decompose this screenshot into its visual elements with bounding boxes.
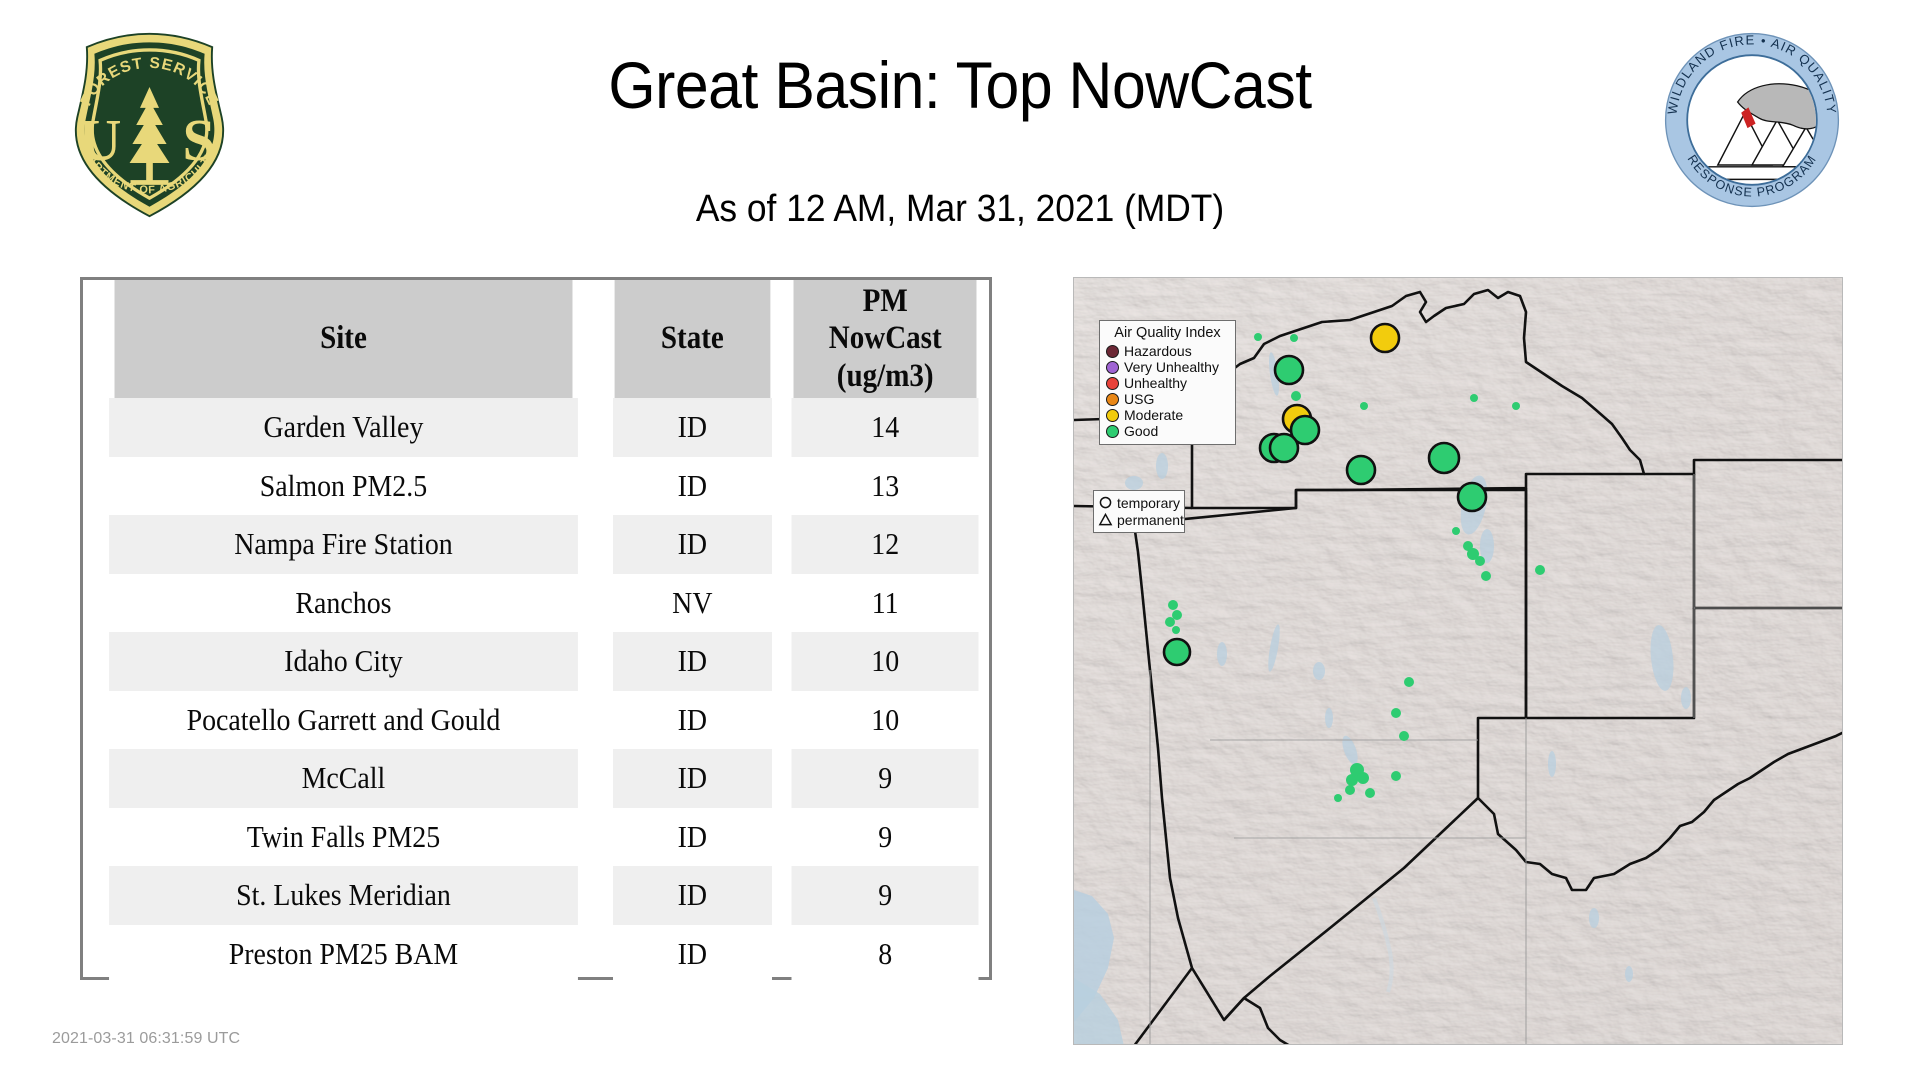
state-cell: ID	[613, 515, 772, 574]
site-cell: Garden Valley	[109, 398, 578, 457]
aqi-color-swatch	[1106, 377, 1119, 390]
map-monitor-marker[interactable]	[1404, 677, 1414, 687]
state-cell: ID	[613, 925, 772, 984]
table-row: Garden ValleyID14	[83, 398, 989, 457]
pm-header-line2: NowCast	[793, 320, 976, 358]
nowcast-table-panel: Site State PM NowCast (ug/m3) Garden Val…	[80, 277, 992, 980]
map-monitor-marker[interactable]	[1357, 772, 1369, 784]
state-cell: ID	[613, 866, 772, 925]
aqi-legend-row: USG	[1106, 391, 1229, 407]
map-monitor-marker[interactable]	[1475, 556, 1485, 566]
aqi-legend-row: Very Unhealthy	[1106, 359, 1229, 375]
aqi-legend-row: Moderate	[1106, 407, 1229, 423]
aqi-category-label: Very Unhealthy	[1124, 359, 1219, 375]
table-row: Idaho CityID10	[83, 632, 989, 691]
state-cell: ID	[613, 749, 772, 808]
site-cell: Salmon PM2.5	[109, 457, 578, 516]
site-cell: McCall	[109, 749, 578, 808]
map-monitor-marker[interactable]	[1470, 394, 1478, 402]
state-cell: ID	[613, 457, 772, 516]
map-monitor-marker[interactable]	[1512, 402, 1520, 410]
permanent-triangle-icon	[1098, 512, 1113, 527]
map-monitor-marker[interactable]	[1535, 565, 1545, 575]
site-type-legend: temporary permanent	[1093, 490, 1185, 533]
great-basin-map[interactable]: Air Quality Index HazardousVery Unhealth…	[1073, 277, 1843, 1045]
map-monitor-marker[interactable]	[1254, 333, 1262, 341]
page-title: Great Basin: Top NowCast	[77, 52, 1843, 118]
table-header-row: Site State PM NowCast (ug/m3)	[83, 280, 989, 398]
aqi-category-label: Good	[1124, 423, 1158, 439]
table-row: McCallID9	[83, 749, 989, 808]
aqi-legend: Air Quality Index HazardousVery Unhealth…	[1099, 320, 1236, 445]
pm-cell: 9	[791, 808, 979, 867]
legend-row-permanent: permanent	[1098, 511, 1179, 528]
map-monitor-marker[interactable]	[1275, 356, 1303, 384]
legend-row-temporary: temporary	[1098, 494, 1179, 511]
map-monitor-marker[interactable]	[1291, 391, 1301, 401]
map-monitor-marker[interactable]	[1365, 788, 1375, 798]
pm-cell: 12	[791, 515, 979, 574]
site-cell: Pocatello Garrett and Gould	[109, 691, 578, 750]
column-header-site: Site	[114, 280, 572, 398]
map-monitor-marker[interactable]	[1165, 617, 1175, 627]
map-monitor-marker[interactable]	[1391, 771, 1401, 781]
column-header-state: State	[615, 280, 770, 398]
pm-cell: 13	[791, 457, 979, 516]
state-cell: NV	[613, 574, 772, 633]
map-monitor-marker[interactable]	[1429, 443, 1459, 473]
pm-cell: 9	[791, 749, 979, 808]
column-header-pm-nowcast: PM NowCast (ug/m3)	[793, 280, 976, 398]
table-row: Salmon PM2.5ID13	[83, 457, 989, 516]
pm-header-line3: (ug/m3)	[793, 358, 976, 396]
map-monitor-marker[interactable]	[1481, 571, 1491, 581]
aqi-category-label: Hazardous	[1124, 343, 1192, 359]
map-monitor-marker[interactable]	[1360, 402, 1368, 410]
map-monitor-marker[interactable]	[1168, 600, 1178, 610]
table-row: Nampa Fire StationID12	[83, 515, 989, 574]
aqi-color-swatch	[1106, 361, 1119, 374]
pm-cell: 9	[791, 866, 979, 925]
site-cell: Ranchos	[109, 574, 578, 633]
wfaqrp-logo: WILDLAND FIRE • AIR QUALITY RESPONSE PRO…	[1662, 30, 1842, 210]
map-monitor-marker[interactable]	[1391, 708, 1401, 718]
aqi-color-swatch	[1106, 409, 1119, 422]
legend-label-permanent: permanent	[1117, 512, 1184, 528]
nowcast-table: Site State PM NowCast (ug/m3) Garden Val…	[83, 280, 989, 983]
map-monitor-marker[interactable]	[1347, 456, 1375, 484]
temporary-circle-icon	[1098, 495, 1113, 510]
site-cell: Preston PM25 BAM	[109, 925, 578, 984]
aqi-category-label: Moderate	[1124, 407, 1183, 423]
pm-cell: 10	[791, 632, 979, 691]
aqi-legend-row: Hazardous	[1106, 343, 1229, 359]
table-row: RanchosNV11	[83, 574, 989, 633]
pm-header-line1: PM	[793, 283, 976, 321]
state-cell: ID	[613, 808, 772, 867]
aqi-legend-row: Good	[1106, 423, 1229, 439]
pm-cell: 11	[791, 574, 979, 633]
map-monitor-marker[interactable]	[1371, 324, 1399, 352]
map-monitor-marker[interactable]	[1270, 434, 1298, 462]
map-monitor-marker[interactable]	[1345, 785, 1355, 795]
legend-label-temporary: temporary	[1117, 495, 1180, 511]
site-cell: Nampa Fire Station	[109, 515, 578, 574]
wfaqrp-seal-icon: WILDLAND FIRE • AIR QUALITY RESPONSE PRO…	[1662, 30, 1842, 210]
aqi-color-swatch	[1106, 345, 1119, 358]
state-cell: ID	[613, 398, 772, 457]
map-monitor-marker[interactable]	[1458, 483, 1486, 511]
aqi-category-label: Unhealthy	[1124, 375, 1187, 391]
aqi-legend-title: Air Quality Index	[1106, 325, 1229, 341]
pm-cell: 8	[791, 925, 979, 984]
table-row: Preston PM25 BAMID8	[83, 925, 989, 984]
pm-cell: 10	[791, 691, 979, 750]
table-row: Pocatello Garrett and GouldID10	[83, 691, 989, 750]
aqi-legend-row: Unhealthy	[1106, 375, 1229, 391]
map-monitor-marker[interactable]	[1172, 626, 1180, 634]
site-cell: St. Lukes Meridian	[109, 866, 578, 925]
map-monitor-marker[interactable]	[1164, 639, 1190, 665]
map-monitor-marker[interactable]	[1334, 794, 1342, 802]
aqi-color-swatch	[1106, 425, 1119, 438]
pm-cell: 14	[791, 398, 979, 457]
site-cell: Idaho City	[109, 632, 578, 691]
map-monitor-marker[interactable]	[1290, 334, 1298, 342]
site-cell: Twin Falls PM25	[109, 808, 578, 867]
map-monitor-marker[interactable]	[1399, 731, 1409, 741]
table-body: Garden ValleyID14Salmon PM2.5ID13Nampa F…	[83, 398, 989, 983]
page-subtitle: As of 12 AM, Mar 31, 2021 (MDT)	[67, 188, 1853, 231]
table-row: St. Lukes MeridianID9	[83, 866, 989, 925]
map-monitor-marker[interactable]	[1452, 527, 1460, 535]
aqi-color-swatch	[1106, 393, 1119, 406]
table-row: Twin Falls PM25ID9	[83, 808, 989, 867]
generation-timestamp: 2021-03-31 06:31:59 UTC	[52, 1030, 240, 1048]
state-cell: ID	[613, 691, 772, 750]
state-cell: ID	[613, 632, 772, 691]
poster-root: FOREST SERVICE U S DEPARTMENT OF AGRICUL…	[0, 0, 1920, 1080]
aqi-category-label: USG	[1124, 391, 1154, 407]
